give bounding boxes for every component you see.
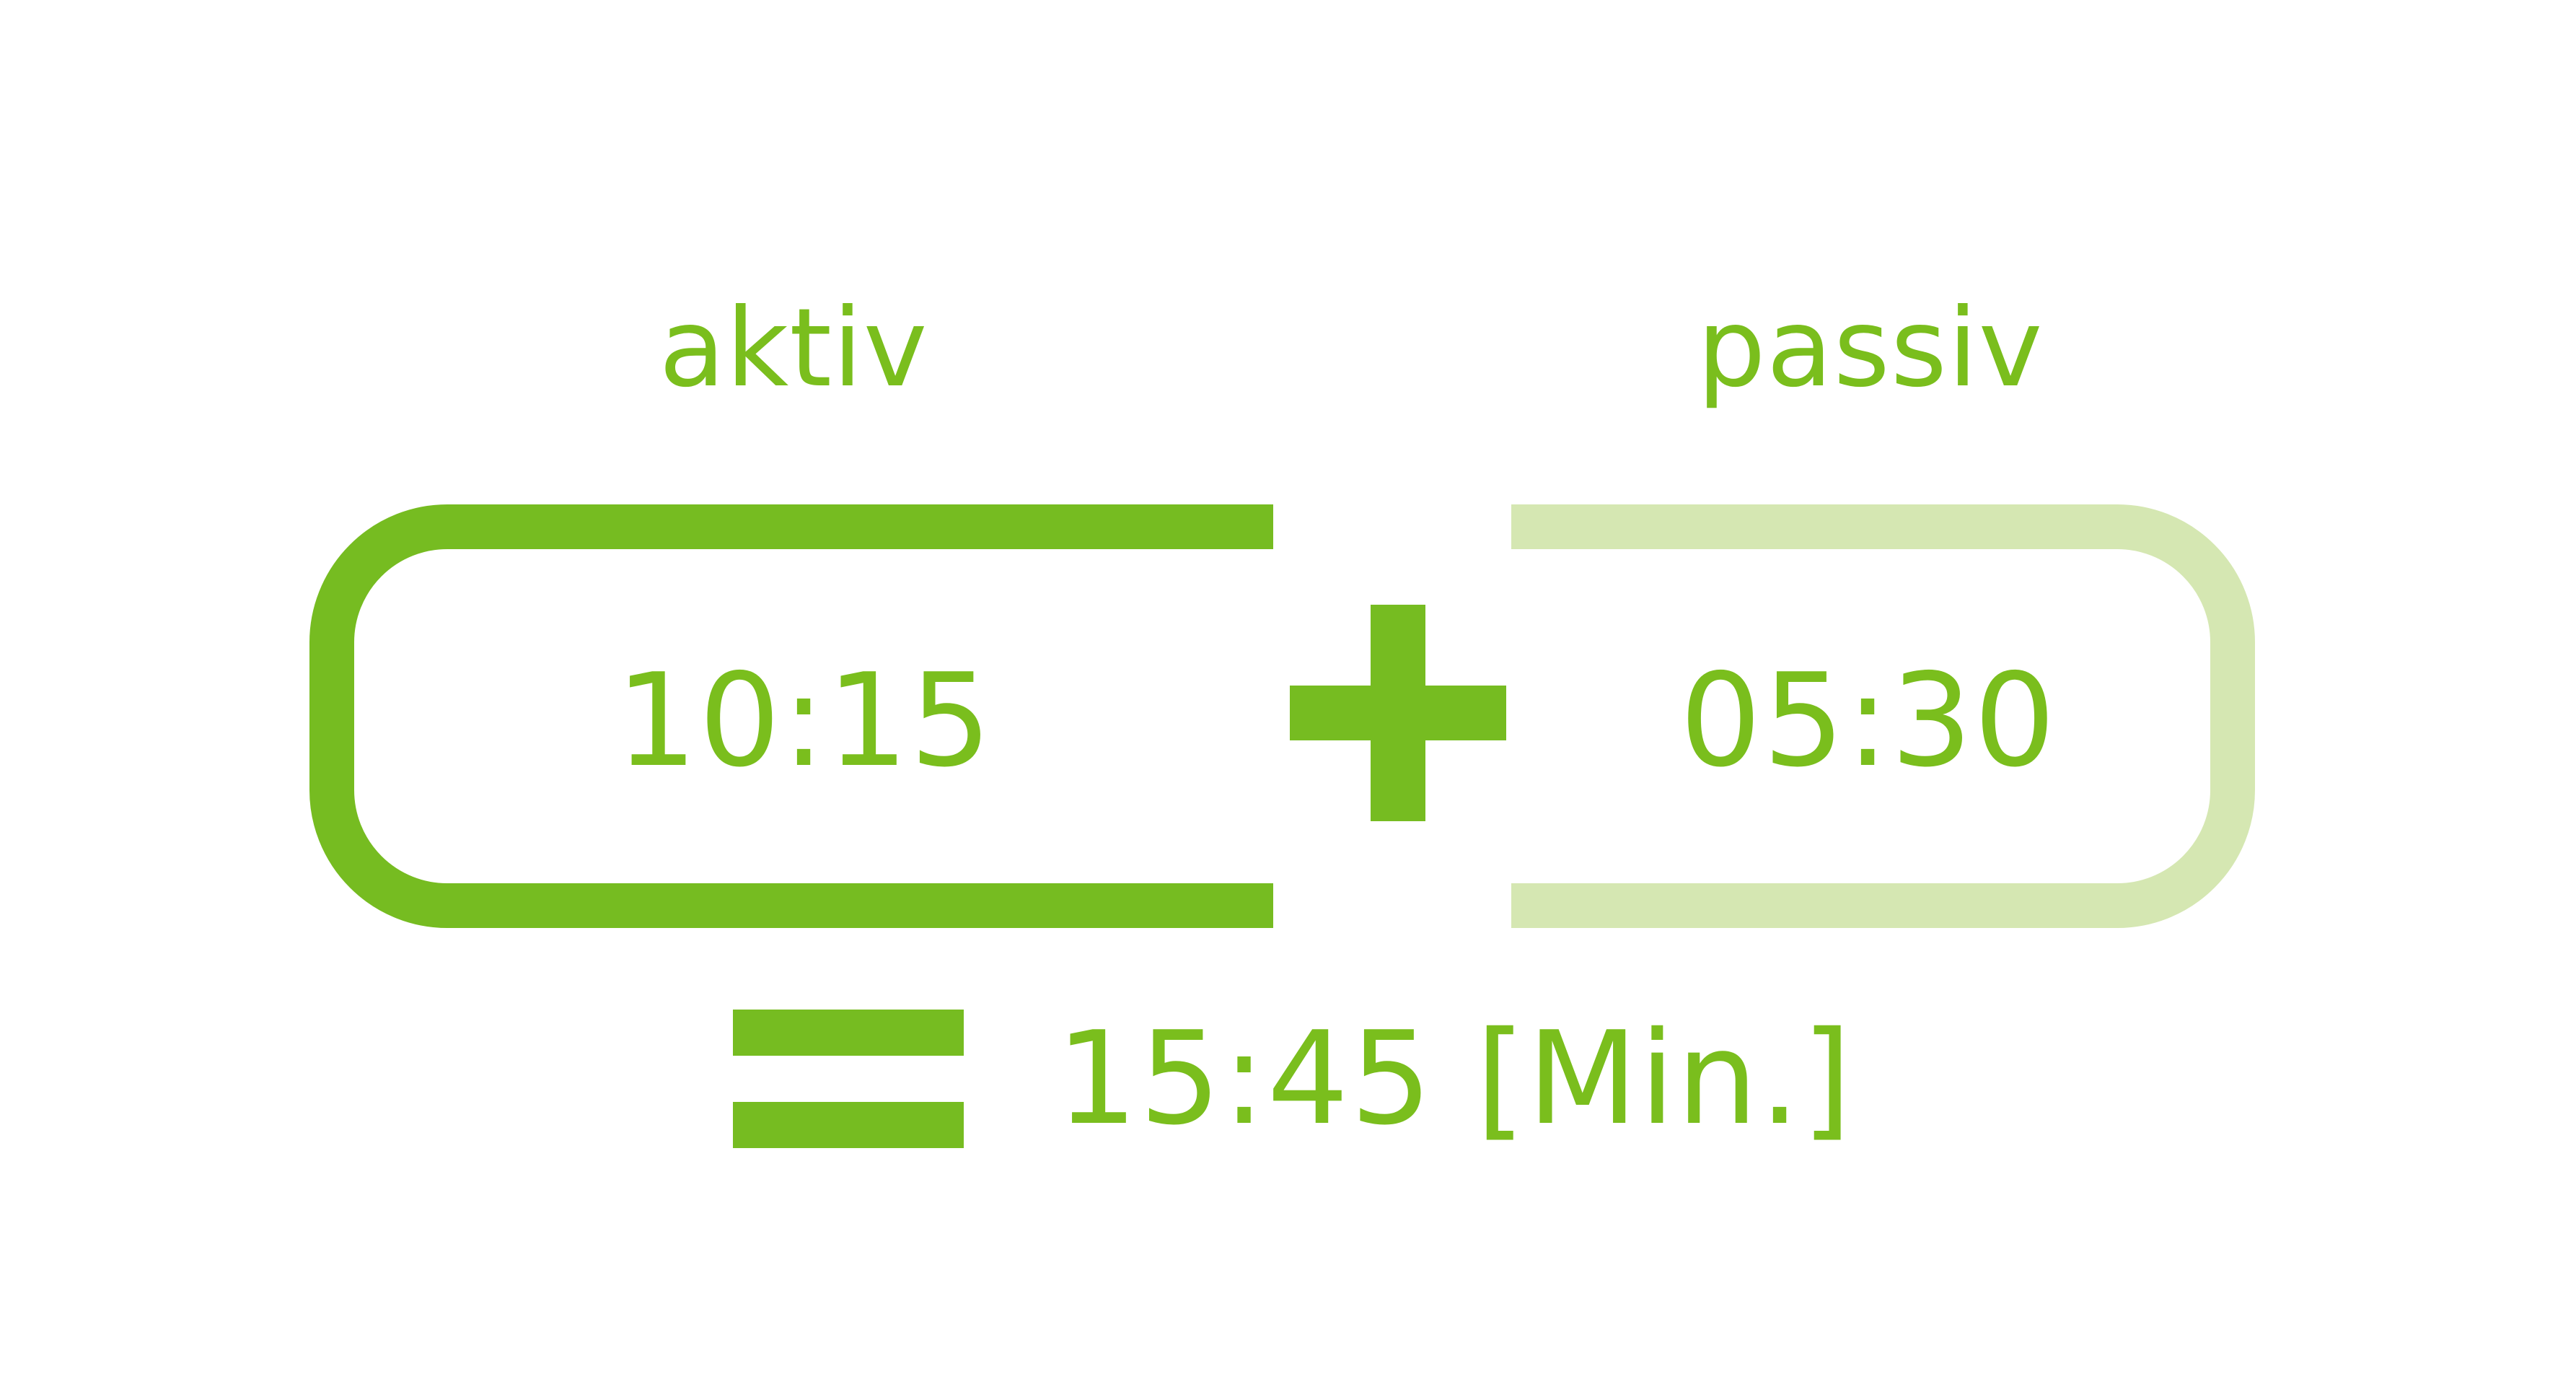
equals-icon [733,1010,964,1148]
value-passiv: 05:30 [1529,657,2207,785]
result-row: 15:45 [Min.] [733,996,1853,1162]
figure-canvas: aktiv passiv 10:15 05:30 15:45 [Min.] [0,0,2576,1392]
value-aktiv: 10:15 [361,657,1248,785]
column-label-passiv: passiv [1504,294,2236,403]
equals-bar-bottom [733,1102,964,1148]
plus-icon [1290,605,1506,821]
result-value: 15:45 [Min.] [1056,1015,1853,1143]
column-label-aktiv: aktiv [310,294,1277,403]
equals-bar-top [733,1010,964,1056]
